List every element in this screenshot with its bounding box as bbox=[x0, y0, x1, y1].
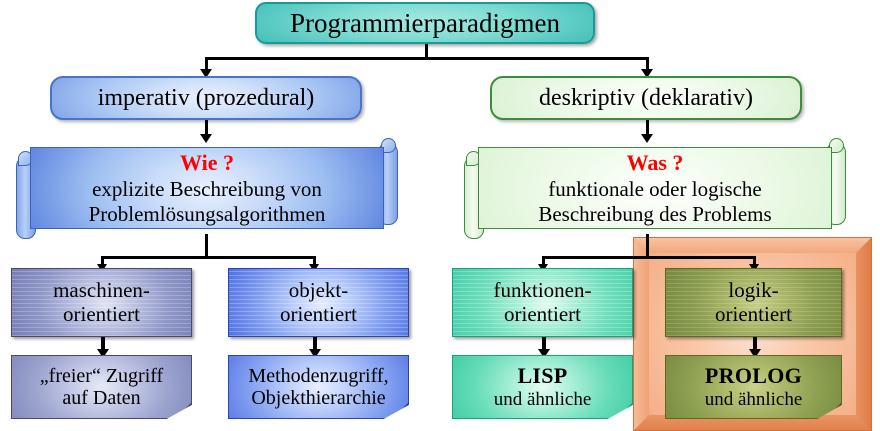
category-object-label-line2: orientiert bbox=[280, 303, 357, 327]
branch-imperative-box[interactable]: imperativ (prozedural) bbox=[50, 76, 362, 120]
language-lisp: LISP bbox=[517, 364, 567, 389]
descriptive-description-line2: Beschreibung des Problems bbox=[538, 202, 771, 227]
imperative-question: Wie ? bbox=[180, 150, 234, 176]
root-title-box[interactable]: Programmierparadigmen bbox=[255, 2, 595, 44]
connector-title-bus bbox=[205, 57, 649, 60]
imperative-description-scroll: Wie ? explizite Beschreibung von Problem… bbox=[14, 143, 400, 239]
page-fold-icon bbox=[393, 403, 408, 418]
page-fold-icon bbox=[176, 403, 191, 418]
category-functional-label-line2: orientiert bbox=[504, 303, 581, 327]
category-machine-label-line2: orientiert bbox=[63, 303, 140, 327]
arrow-descriptive-to-scroll bbox=[641, 134, 653, 143]
branch-descriptive-box[interactable]: deskriptiv (deklarativ) bbox=[490, 76, 802, 120]
arrow-imperative-to-scroll bbox=[200, 134, 212, 143]
page-fold-icon bbox=[617, 403, 632, 418]
category-object-oriented[interactable]: objekt- orientiert bbox=[228, 268, 409, 337]
connector-left-split-bus bbox=[101, 256, 316, 259]
descriptive-description-line1: funktionale oder logische bbox=[548, 177, 761, 202]
leaf-logic-language[interactable]: PROLOG und ähnliche bbox=[665, 355, 842, 419]
root-title-label: Programmierparadigmen bbox=[290, 8, 560, 38]
category-logic-oriented[interactable]: logik- orientiert bbox=[665, 268, 842, 337]
branch-descriptive-label: deskriptiv (deklarativ) bbox=[539, 85, 753, 112]
category-machine-label-line1: maschinen- bbox=[53, 279, 150, 303]
language-prolog-note: und ähnliche bbox=[705, 389, 803, 410]
leaf-functional-language[interactable]: LISP und ähnliche bbox=[452, 355, 633, 419]
category-object-label-line1: objekt- bbox=[289, 279, 348, 303]
branch-imperative-label: imperativ (prozedural) bbox=[98, 85, 315, 112]
category-functional-label-line1: funktionen- bbox=[494, 279, 592, 303]
category-logic-label-line1: logik- bbox=[728, 279, 778, 303]
imperative-description-line2: Problemlösungsalgorithmen bbox=[89, 202, 326, 227]
language-prolog: PROLOG bbox=[705, 364, 802, 389]
leaf-machine-line1: „freier“ Zugriff bbox=[40, 365, 163, 387]
descriptive-description-body: Was ? funktionale oder logische Beschrei… bbox=[478, 147, 832, 229]
descriptive-question: Was ? bbox=[627, 150, 684, 176]
leaf-object-line1: Methodenzugriff, bbox=[248, 365, 388, 387]
connector-right-split-bus bbox=[542, 256, 756, 259]
diagram-canvas: Programmierparadigmen imperativ (prozedu… bbox=[0, 0, 880, 426]
leaf-object-detail[interactable]: Methodenzugriff, Objekthierarchie bbox=[228, 355, 409, 419]
language-lisp-note: und ähnliche bbox=[494, 389, 592, 410]
category-logic-label-line2: orientiert bbox=[715, 303, 792, 327]
imperative-description-line1: explizite Beschreibung von bbox=[92, 177, 322, 202]
category-functional-oriented[interactable]: funktionen- orientiert bbox=[452, 268, 633, 337]
leaf-machine-line2: auf Daten bbox=[62, 387, 140, 409]
descriptive-description-scroll: Was ? funktionale oder logische Beschrei… bbox=[462, 143, 848, 239]
leaf-object-line2: Objekthierarchie bbox=[251, 387, 385, 409]
imperative-description-body: Wie ? explizite Beschreibung von Problem… bbox=[30, 147, 384, 229]
leaf-machine-detail[interactable]: „freier“ Zugriff auf Daten bbox=[11, 355, 192, 419]
category-machine-oriented[interactable]: maschinen- orientiert bbox=[11, 268, 192, 337]
